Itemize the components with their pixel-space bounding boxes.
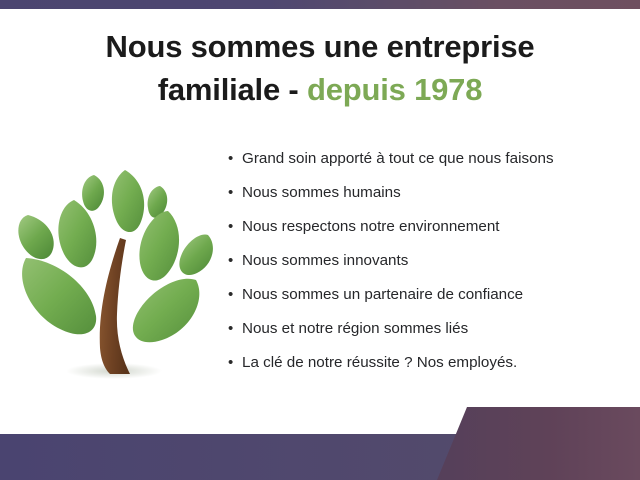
list-item-label: La clé de notre réussite ? Nos employés.: [242, 354, 517, 371]
bullet-dot-icon: •: [228, 253, 242, 268]
footer-logo-panel: [437, 407, 640, 480]
bullet-dot-icon: •: [228, 321, 242, 336]
headline-line-1: Nous sommes une entreprise: [106, 29, 535, 64]
tree-leaf: [133, 279, 200, 343]
list-item-label: Nous sommes humains: [242, 184, 401, 201]
bullet-dot-icon: •: [228, 219, 242, 234]
list-item: • Nous et notre région sommes liés: [228, 320, 628, 354]
value-bullet-list: • Grand soin apporté à tout ce que nous …: [228, 150, 628, 388]
list-item-label: Grand soin apporté à tout ce que nous fa…: [242, 150, 554, 167]
headline-line-2: familiale - depuis 1978: [0, 69, 640, 112]
headline-line-2-plain: familiale -: [158, 72, 299, 107]
list-item-label: Nous respectons notre environnement: [242, 218, 500, 235]
top-accent-bar: [0, 0, 640, 9]
tree-leaf: [82, 175, 104, 211]
bullet-dot-icon: •: [228, 287, 242, 302]
list-item-label: Nous sommes innovants: [242, 252, 408, 269]
page-title: Nous sommes une entreprise familiale - d…: [0, 26, 640, 112]
list-item: • Grand soin apporté à tout ce que nous …: [228, 150, 628, 184]
tree-trunk: [100, 238, 130, 374]
family-tree-icon: [12, 142, 224, 390]
bullet-dot-icon: •: [228, 185, 242, 200]
footer-bar: tabor-automobiles.fr: [0, 400, 640, 480]
list-item-label: Nous et notre région sommes liés: [242, 320, 468, 337]
bullet-dot-icon: •: [228, 355, 242, 370]
tree-leaf: [179, 235, 213, 276]
list-item-label: Nous sommes un partenaire de confiance: [242, 286, 523, 303]
headline-accent-since-1978: depuis 1978: [307, 72, 482, 107]
tree-leaf: [18, 215, 53, 259]
list-item: • Nous sommes innovants: [228, 252, 628, 286]
footer-left-band: [0, 434, 470, 480]
tree-leaf: [139, 211, 179, 281]
tree-leaf: [112, 170, 144, 232]
list-item: • La clé de notre réussite ? Nos employé…: [228, 354, 628, 388]
list-item: • Nous respectons notre environnement: [228, 218, 628, 252]
bullet-dot-icon: •: [228, 151, 242, 166]
tree-leaf: [22, 258, 96, 334]
list-item: • Nous sommes humains: [228, 184, 628, 218]
list-item: • Nous sommes un partenaire de confiance: [228, 286, 628, 320]
slide-canvas: Nous sommes une entreprise familiale - d…: [0, 0, 640, 480]
